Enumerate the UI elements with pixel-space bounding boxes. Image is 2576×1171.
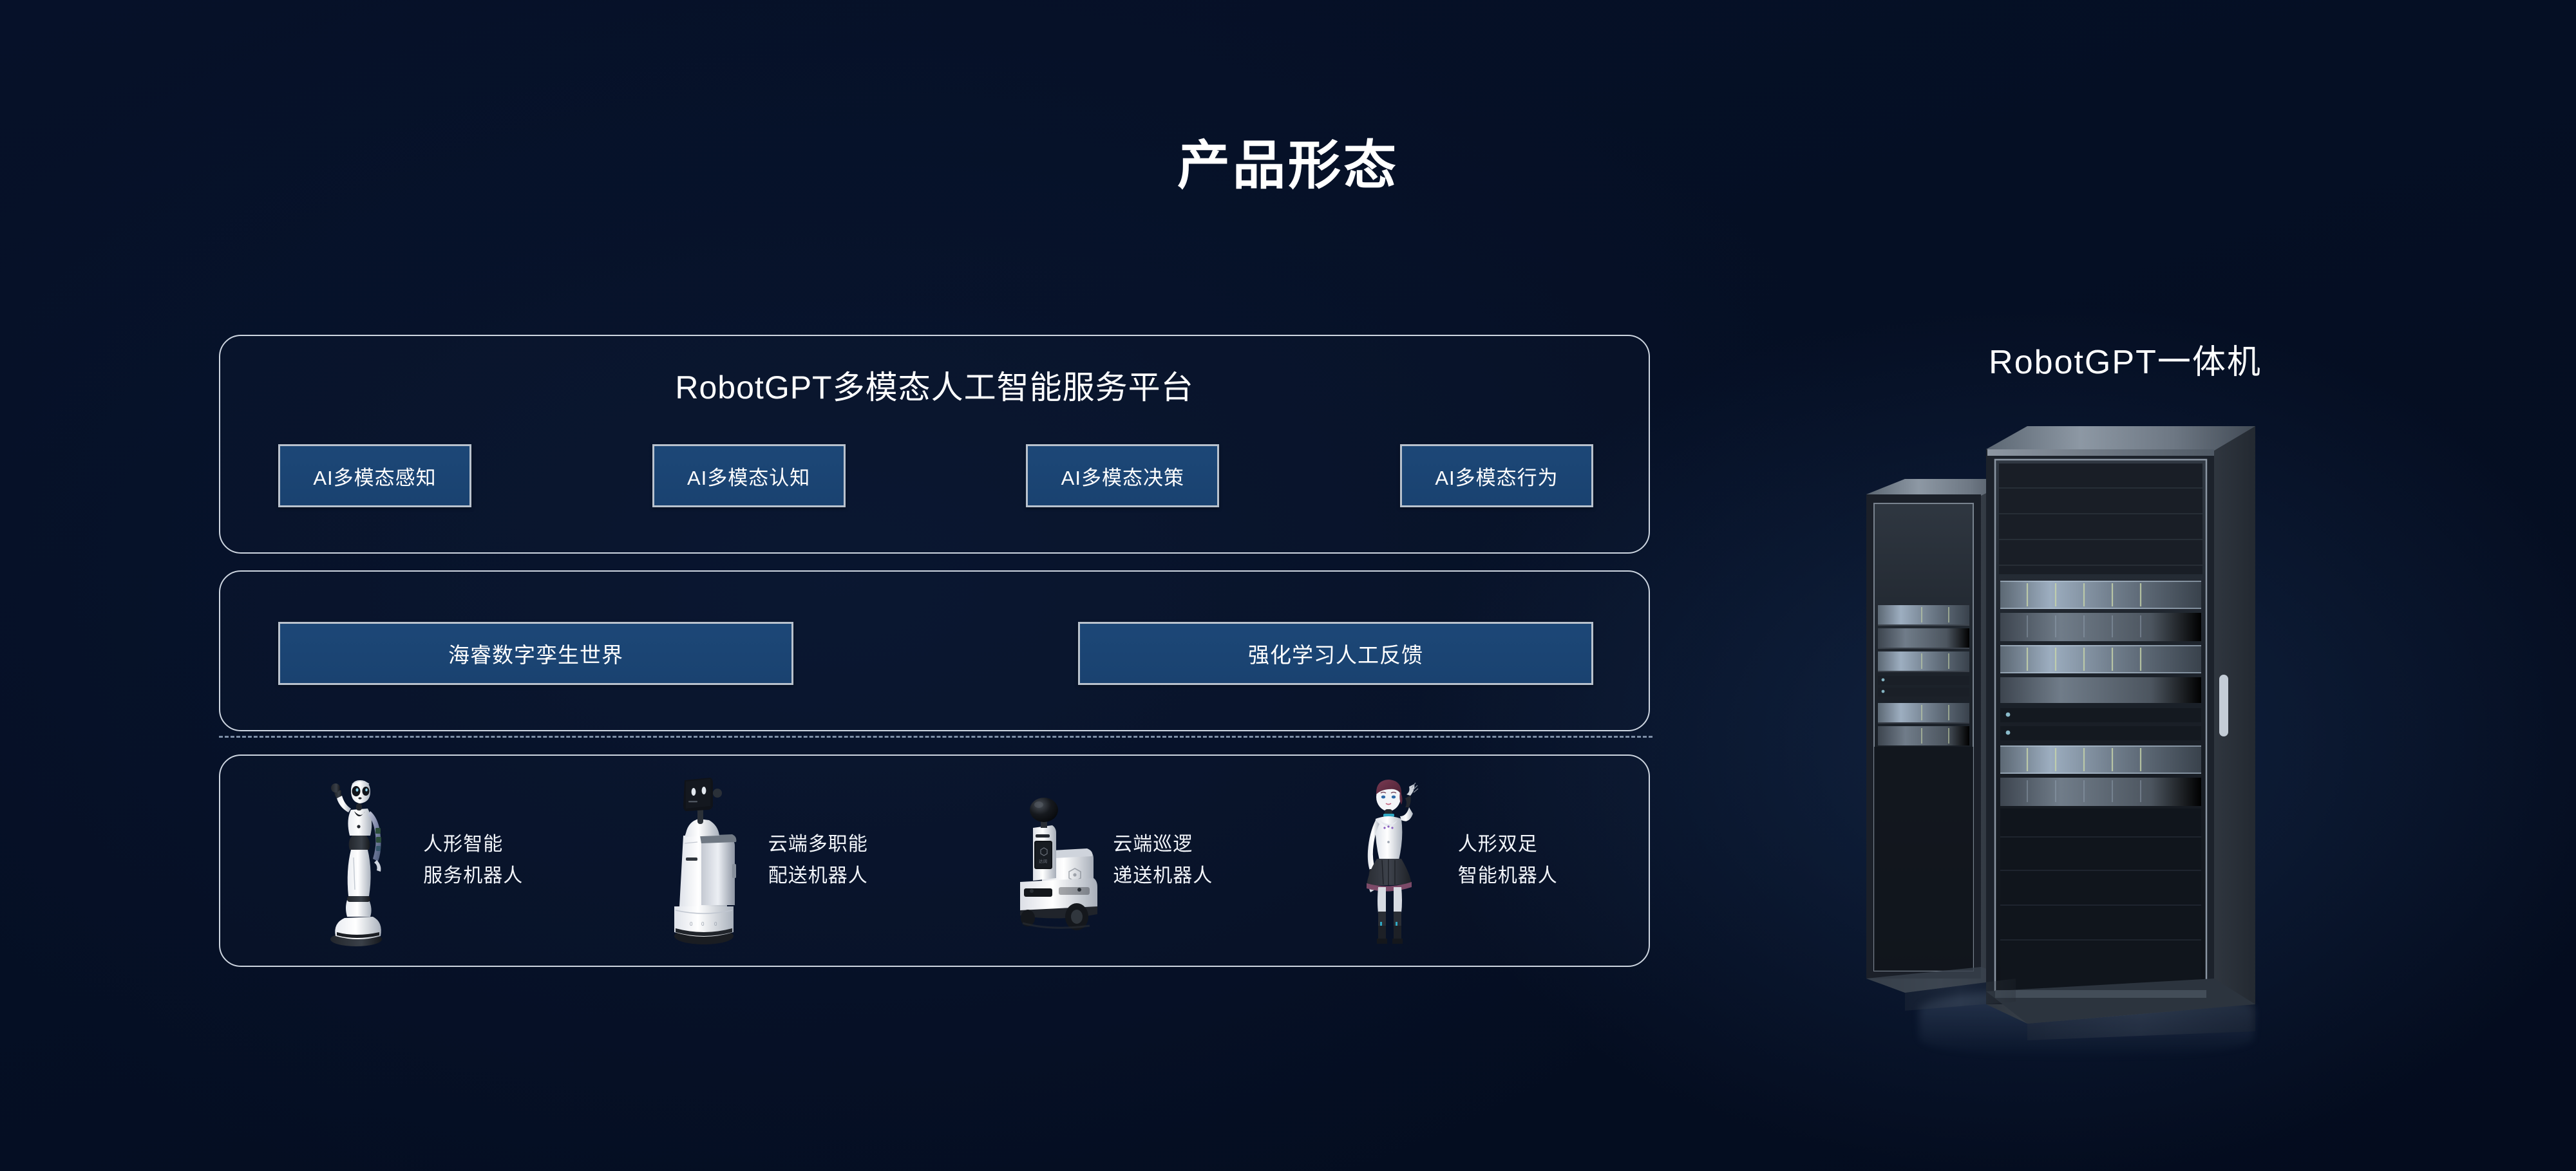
primary-cabinet [1986, 426, 2255, 1024]
capability-chip-row: AI多模态感知 AI多模态认知 AI多模态决策 AI多模态行为 [278, 444, 1593, 507]
humanoid-service-robot-icon [314, 774, 410, 948]
product-label-line1: 人形双足 [1458, 829, 1558, 861]
capability-chip-perception[interactable]: AI多模态感知 [278, 444, 471, 507]
product-label-cloud-delivery: 云端多职能 配送机器人 [768, 829, 868, 892]
product-label-line1: 人形智能 [423, 829, 523, 861]
engine-module-rlhf[interactable]: 强化学习人工反馈 [1078, 622, 1593, 685]
bipedal-humanoid-robot-icon [1349, 774, 1445, 948]
cloud-delivery-robot-icon: 0 0 0 [659, 774, 755, 948]
product-label-bipedal-humanoid: 人形双足 智能机器人 [1458, 829, 1558, 892]
slide-canvas: 产品形态 RobotGPT多模态人工智能服务平台 AI多模态感知 AI多模态认知… [0, 0, 2576, 1171]
product-item-patrol-delivery[interactable]: 达阔 达阔 [936, 756, 1281, 966]
capability-chip-behavior[interactable]: AI多模态行为 [1400, 444, 1593, 507]
product-label-line2: 递送机器人 [1113, 861, 1213, 892]
patrol-delivery-vehicle-icon: 达阔 达阔 [1003, 774, 1100, 948]
svg-text:0: 0 [714, 921, 717, 927]
svg-text:达阔: 达阔 [1039, 858, 1047, 864]
product-label-patrol-delivery: 云端巡逻 递送机器人 [1113, 829, 1213, 892]
svg-text:0: 0 [690, 921, 693, 927]
svg-text:0: 0 [701, 921, 705, 927]
product-label-humanoid-service: 人形智能 服务机器人 [423, 829, 523, 892]
product-item-humanoid-service[interactable]: 人形智能 服务机器人 [246, 756, 591, 966]
products-panel: 人形智能 服务机器人 [219, 754, 1650, 967]
product-row: 人形智能 服务机器人 [246, 756, 1625, 966]
product-label-line1: 云端多职能 [768, 829, 868, 861]
product-label-line2: 服务机器人 [423, 861, 523, 892]
product-label-line1: 云端巡逻 [1113, 829, 1213, 861]
engine-panel: 海睿数字孪生世界 强化学习人工反馈 [219, 570, 1650, 731]
product-item-cloud-delivery[interactable]: 0 0 0 [591, 756, 936, 966]
section-divider [219, 736, 1653, 738]
platform-title: RobotGPT多模态人工智能服务平台 [220, 362, 1649, 408]
product-label-line2: 智能机器人 [1458, 861, 1558, 892]
platform-panel: RobotGPT多模态人工智能服务平台 AI多模态感知 AI多模态认知 AI多模… [219, 335, 1650, 554]
appliance-title: RobotGPT一体机 [1765, 335, 2486, 383]
engine-module-digital-twin[interactable]: 海睿数字孪生世界 [278, 622, 793, 685]
product-label-line2: 配送机器人 [768, 861, 868, 892]
capability-chip-decision[interactable]: AI多模态决策 [1026, 444, 1219, 507]
page-title: 产品形态 [0, 122, 2576, 199]
capability-chip-cognition[interactable]: AI多模态认知 [652, 444, 846, 507]
server-rack-pair-icon [1855, 412, 2267, 1043]
engine-module-row: 海睿数字孪生世界 强化学习人工反馈 [278, 622, 1593, 685]
product-item-bipedal-humanoid[interactable]: 人形双足 智能机器人 [1281, 756, 1626, 966]
